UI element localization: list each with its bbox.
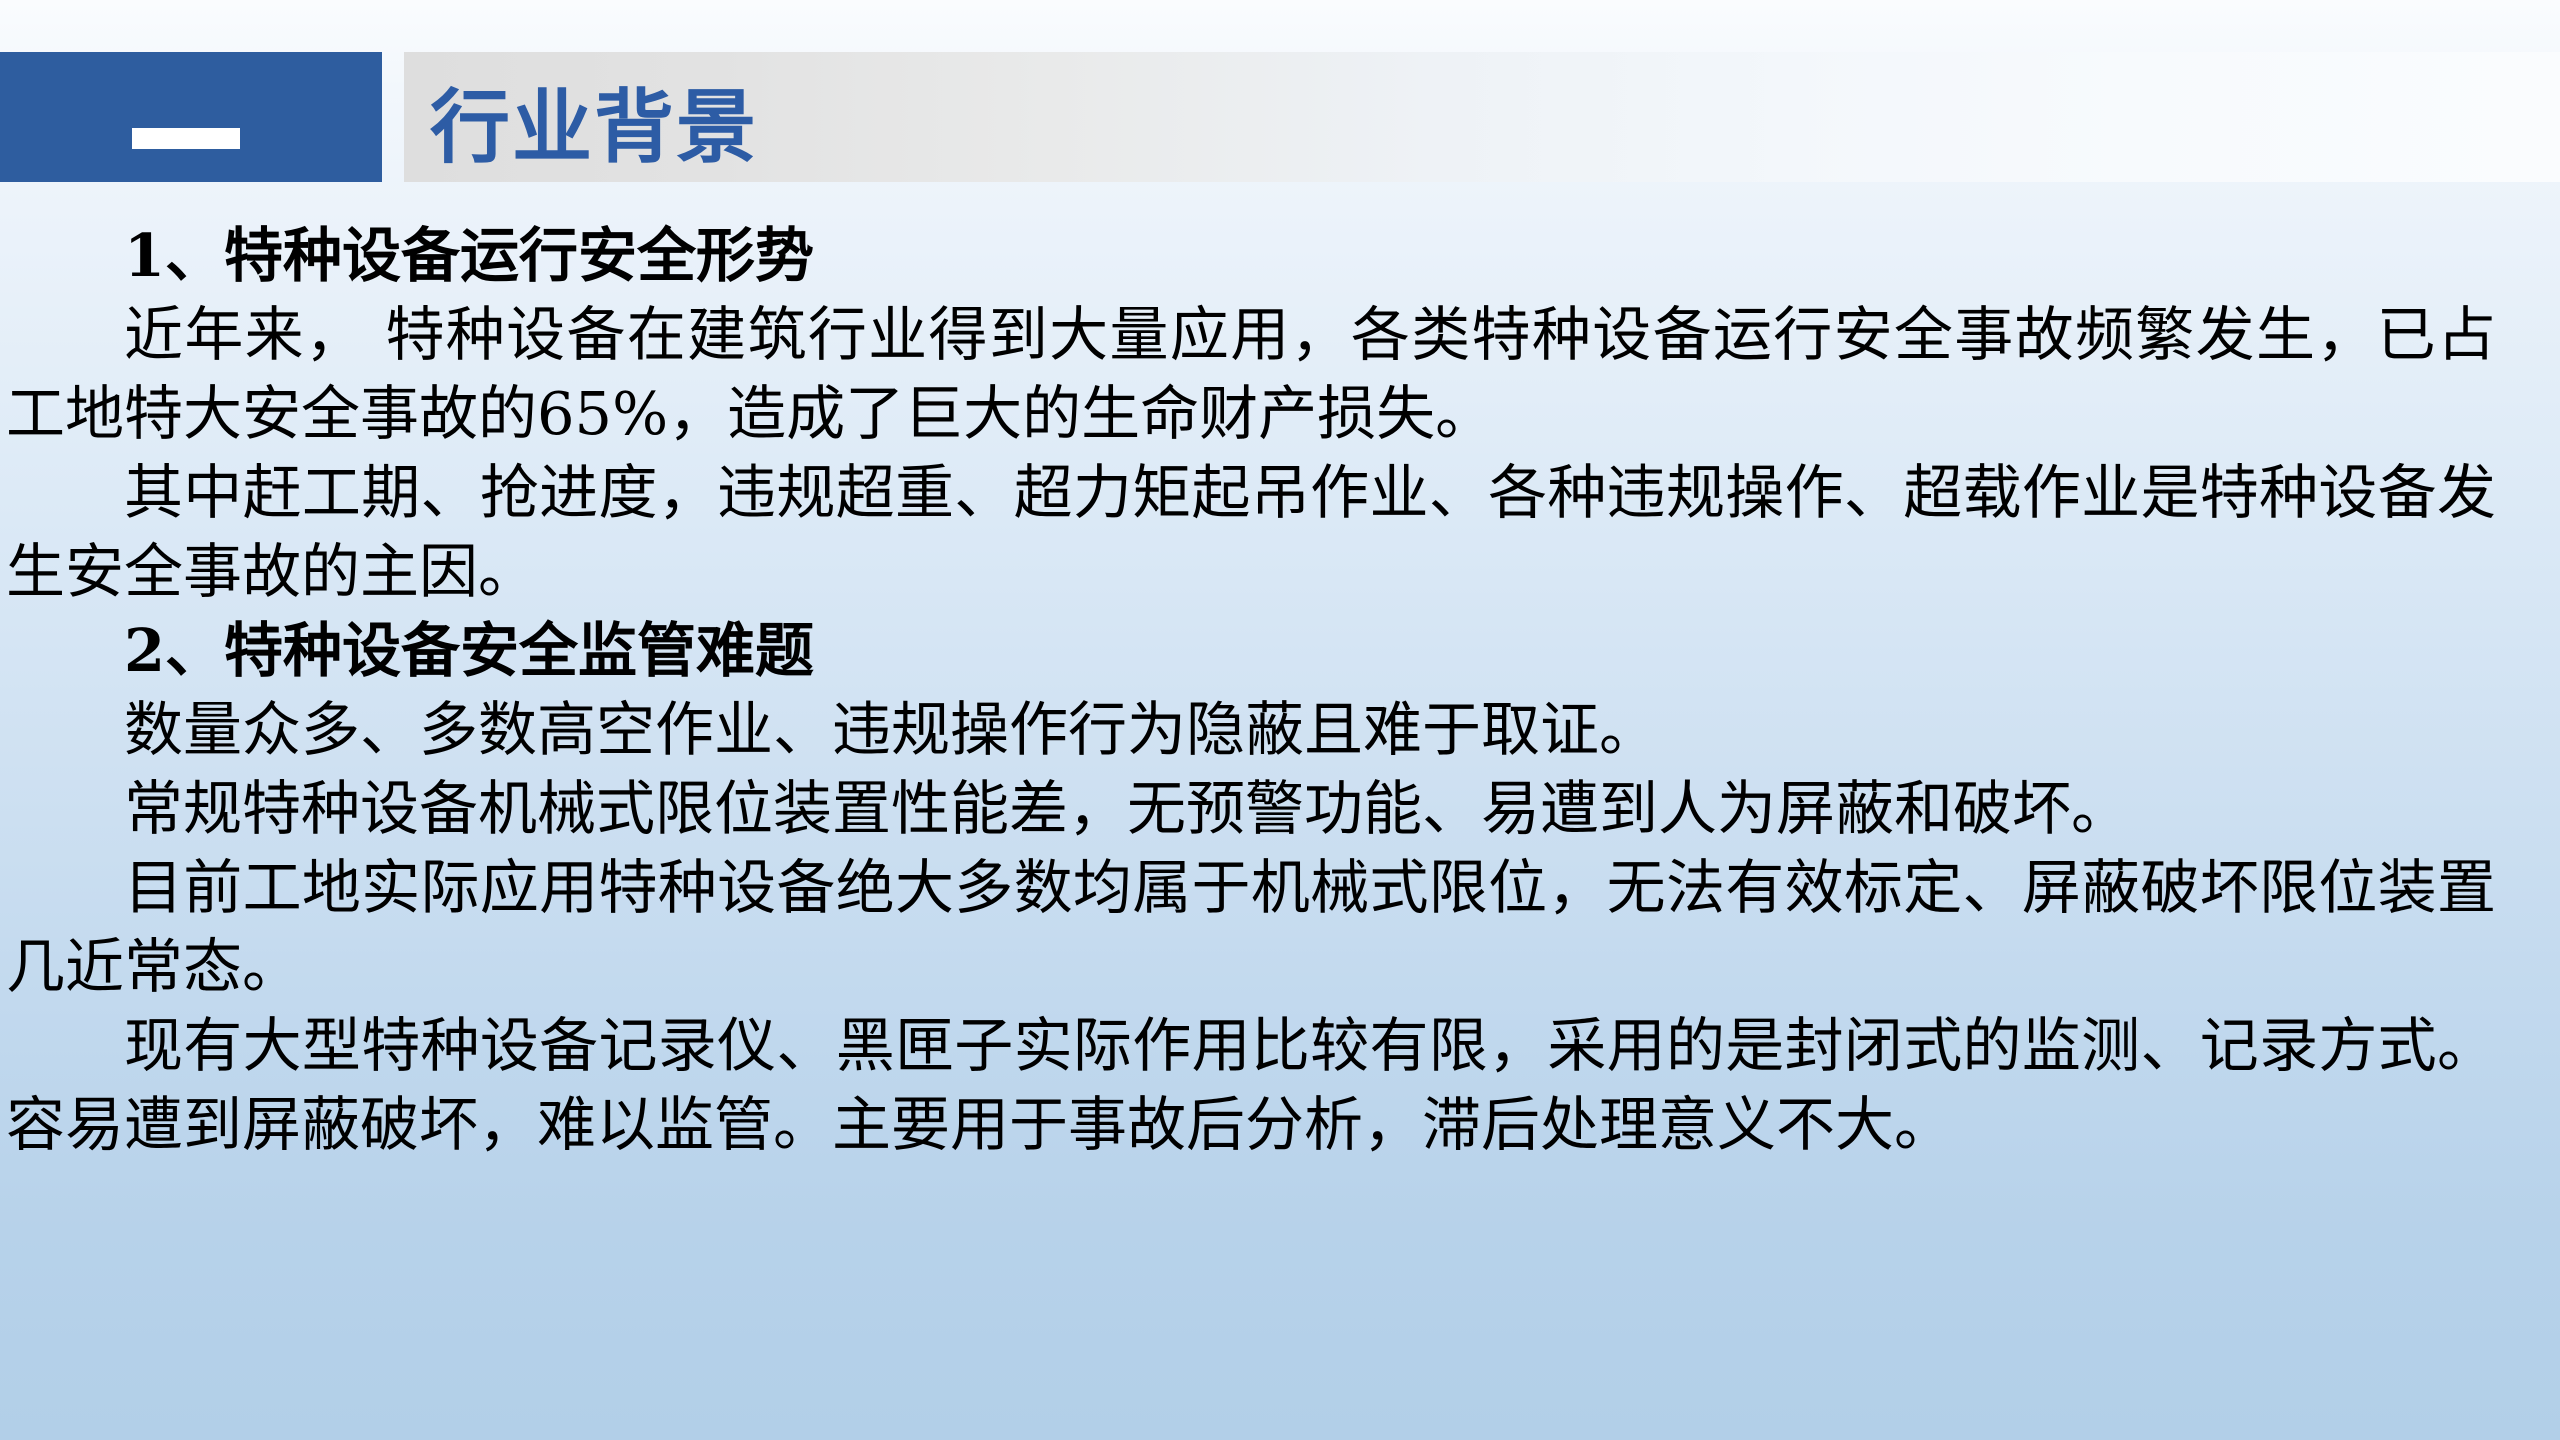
body-paragraph-1: 近年来， 特种设备在建筑行业得到大量应用，各类特种设备运行安全事故频繁发生，已占… [6, 295, 2496, 453]
slide-header: 行业背景 [0, 52, 2560, 182]
presentation-slide: 行业背景 1、特种设备运行安全形势 近年来， 特种设备在建筑行业得到大量应用，各… [0, 0, 2560, 1440]
section-number-one-glyph [132, 128, 240, 149]
section-number-block [0, 52, 382, 182]
body-heading-2: 2、特种设备安全监管难题 [6, 611, 2496, 690]
slide-title: 行业背景 [430, 78, 758, 178]
body-paragraph-2: 其中赶工期、抢进度，违规超重、超力矩起吊作业、各种违规操作、超载作业是特种设备发… [6, 453, 2496, 611]
body-paragraph-3: 数量众多、多数高空作业、违规操作行为隐蔽且难于取证。 [6, 690, 2496, 769]
body-paragraph-6: 现有大型特种设备记录仪、黑匣子实际作用比较有限，采用的是封闭式的监测、记录方式。… [6, 1006, 2496, 1164]
body-paragraph-5: 目前工地实际应用特种设备绝大多数均属于机械式限位，无法有效标定、屏蔽破坏限位装置… [6, 848, 2496, 1006]
body-paragraph-4: 常规特种设备机械式限位装置性能差，无预警功能、易遭到人为屏蔽和破坏。 [6, 769, 2496, 848]
body-heading-1: 1、特种设备运行安全形势 [6, 216, 2496, 295]
slide-body: 1、特种设备运行安全形势 近年来， 特种设备在建筑行业得到大量应用，各类特种设备… [0, 216, 2496, 1164]
